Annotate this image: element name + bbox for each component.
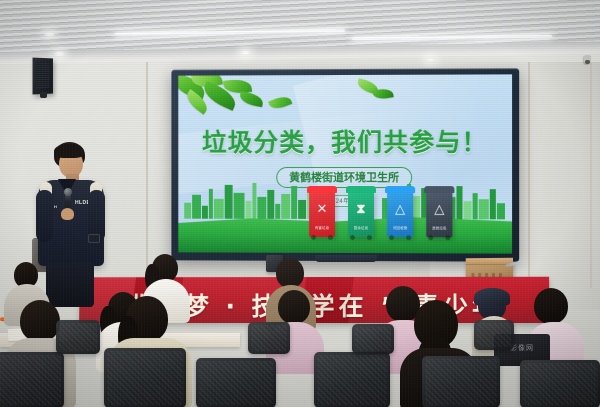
hazardous-waste-bin: ✕ 有害垃圾 — [309, 191, 335, 237]
wall-seam — [528, 58, 530, 288]
recycle-icon: △ — [426, 202, 452, 215]
recyclable-waste-bin: △ 可回收物 — [387, 191, 413, 237]
downlight — [425, 57, 436, 63]
wall-seam — [590, 58, 592, 288]
chair[interactable] — [520, 360, 600, 407]
chair[interactable] — [56, 320, 100, 354]
display-screen: 垃圾分类，我们共参与！ 黄鹤楼街道环境卫生所 2024年8月 — [178, 74, 512, 253]
display-chin — [315, 255, 377, 262]
downlight — [240, 50, 251, 56]
led-display[interactable]: 垃圾分类，我们共参与！ 黄鹤楼街道环境卫生所 2024年8月 — [171, 68, 519, 261]
chair[interactable] — [0, 352, 64, 407]
presenter: HLDE H — [28, 142, 114, 307]
downlight — [54, 51, 65, 57]
head — [276, 258, 304, 288]
photo-scene: 垃圾分类，我们共参与！ 黄鹤楼街道环境卫生所 2024年8月 — [0, 0, 600, 407]
bin-label: 其他垃圾 — [426, 226, 452, 230]
bin-label: 可回收物 — [387, 226, 413, 230]
ceiling-sensor-icon — [584, 55, 591, 64]
speaker-bracket — [40, 92, 47, 98]
trash-bin-group: ✕ 有害垃圾 ⧗ 厨余垃圾 △ 可回收物 — [178, 181, 512, 238]
other-waste-bin: △ 其他垃圾 — [426, 191, 452, 237]
cap-icon — [474, 288, 510, 306]
shirt-badge: H — [54, 204, 57, 209]
x-icon: ✕ — [309, 202, 335, 215]
presenter-arm-left — [36, 190, 53, 242]
chair[interactable] — [314, 352, 390, 407]
chair[interactable] — [104, 348, 186, 407]
head — [278, 290, 310, 324]
presenter-hair-front — [54, 144, 84, 158]
downlight — [44, 31, 55, 37]
chair[interactable] — [474, 320, 514, 350]
head — [20, 300, 60, 342]
head — [534, 288, 568, 324]
presenter-hand — [61, 208, 74, 220]
bin-label: 厨余垃圾 — [348, 226, 374, 230]
slide-title: 垃圾分类，我们共参与！ — [178, 123, 512, 159]
wall-seam — [146, 58, 148, 288]
chair[interactable] — [248, 322, 290, 354]
kitchen-waste-bin: ⧗ 厨余垃圾 — [348, 191, 374, 237]
wall-speaker — [33, 58, 53, 95]
chair[interactable] — [352, 324, 394, 354]
chair[interactable] — [196, 358, 276, 407]
presenter-legs — [46, 262, 94, 307]
chair[interactable] — [422, 356, 500, 407]
hourglass-icon: ⧗ — [348, 202, 374, 215]
bin-label: 有害垃圾 — [309, 226, 335, 230]
wristwatch — [88, 234, 100, 243]
recycle-icon: △ — [387, 202, 413, 215]
